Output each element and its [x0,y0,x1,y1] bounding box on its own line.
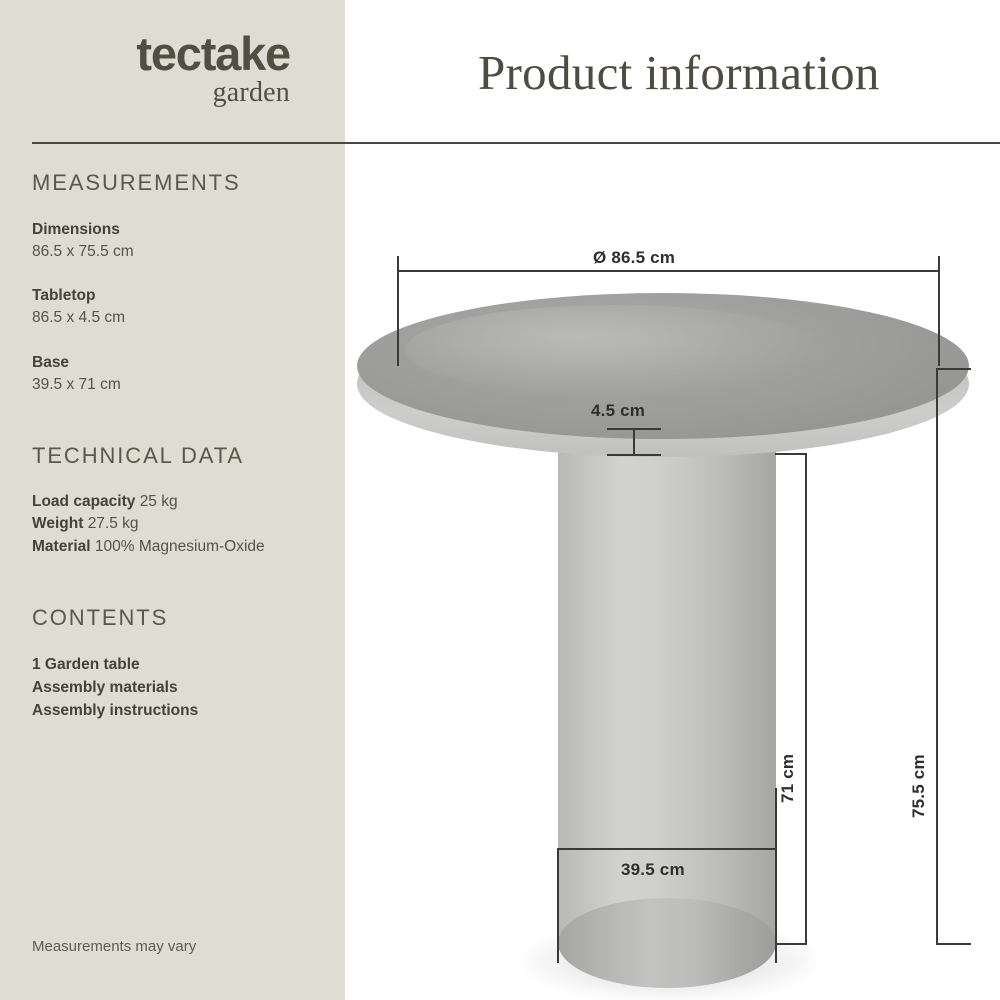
logo-wordmark: tectake [0,30,290,77]
list-item: Assembly instructions [32,700,198,723]
dimension-line-diameter [397,270,940,272]
technical-data-row: Weight 27.5 kg [32,513,265,535]
section-title-technical-data: TECHNICAL DATA [32,443,244,469]
spec-tabletop: Tabletop 86.5 x 4.5 cm [32,285,125,329]
dimension-line-base-diameter [557,848,777,850]
technical-data-value: 100% Magnesium-Oxide [95,538,265,555]
dimension-label-diameter: Ø 86.5 cm [593,248,675,268]
dimension-tick-right-base-diameter [775,788,777,963]
technical-data-value: 27.5 kg [88,515,139,532]
tabletop-highlight [405,305,825,395]
technical-data-row: Material 100% Magnesium-Oxide [32,536,265,558]
dimension-tick-left-diameter [397,256,399,366]
footnote-disclaimer: Measurements may vary [32,938,196,955]
list-item: Assembly materials [32,677,198,700]
dimension-tick-top-base-height [775,453,807,455]
dimension-tick-left-base-diameter [557,848,559,963]
dimension-label-thickness: 4.5 cm [591,401,645,421]
spec-base: Base 39.5 x 71 cm [32,352,121,396]
contents-list: 1 Garden table Assembly materials Assemb… [32,654,198,722]
dimension-label-base-diameter: 39.5 cm [621,860,685,880]
spec-label: Tabletop [32,285,125,307]
dimension-tick-right-diameter [938,256,940,366]
dimension-label-total-height: 75.5 cm [909,754,929,818]
spec-value: 86.5 x 4.5 cm [32,307,125,329]
spec-value: 39.5 x 71 cm [32,374,121,396]
list-item: 1 Garden table [32,654,198,677]
product-diagram: Ø 86.5 cm 4.5 cm 71 cm 75.5 cm 39.5 cm [345,143,1000,1000]
dimension-label-base-height: 71 cm [778,754,798,803]
table-base-bottom-ellipse [558,898,776,988]
technical-data-value: 25 kg [140,493,178,510]
dimension-line-thickness [633,428,635,456]
technical-data-key: Material [32,538,91,555]
section-title-measurements: MEASUREMENTS [32,170,241,196]
technical-data-key: Load capacity [32,493,135,510]
dimension-tick-bottom-total-height [936,943,971,945]
logo-subbrand: garden [0,78,290,109]
dimension-line-total-height [936,368,938,945]
dimension-tick-bottom-base-height [775,943,807,945]
dimension-cap-bottom-thickness [607,454,661,456]
section-title-contents: CONTENTS [32,605,168,631]
dimension-tick-top-total-height [936,368,971,370]
technical-data-list: Load capacity 25 kg Weight 27.5 kg Mater… [32,491,265,558]
spec-dimensions: Dimensions 86.5 x 75.5 cm [32,219,134,263]
sidebar: tectake garden MEASUREMENTS Dimensions 8… [0,0,345,1000]
technical-data-row: Load capacity 25 kg [32,491,265,513]
dimension-line-base-height [805,453,807,945]
spec-value: 86.5 x 75.5 cm [32,241,134,263]
technical-data-key: Weight [32,515,83,532]
brand-logo: tectake garden [0,30,290,109]
spec-label: Base [32,352,121,374]
page-title: Product information [478,44,880,101]
spec-label: Dimensions [32,219,134,241]
